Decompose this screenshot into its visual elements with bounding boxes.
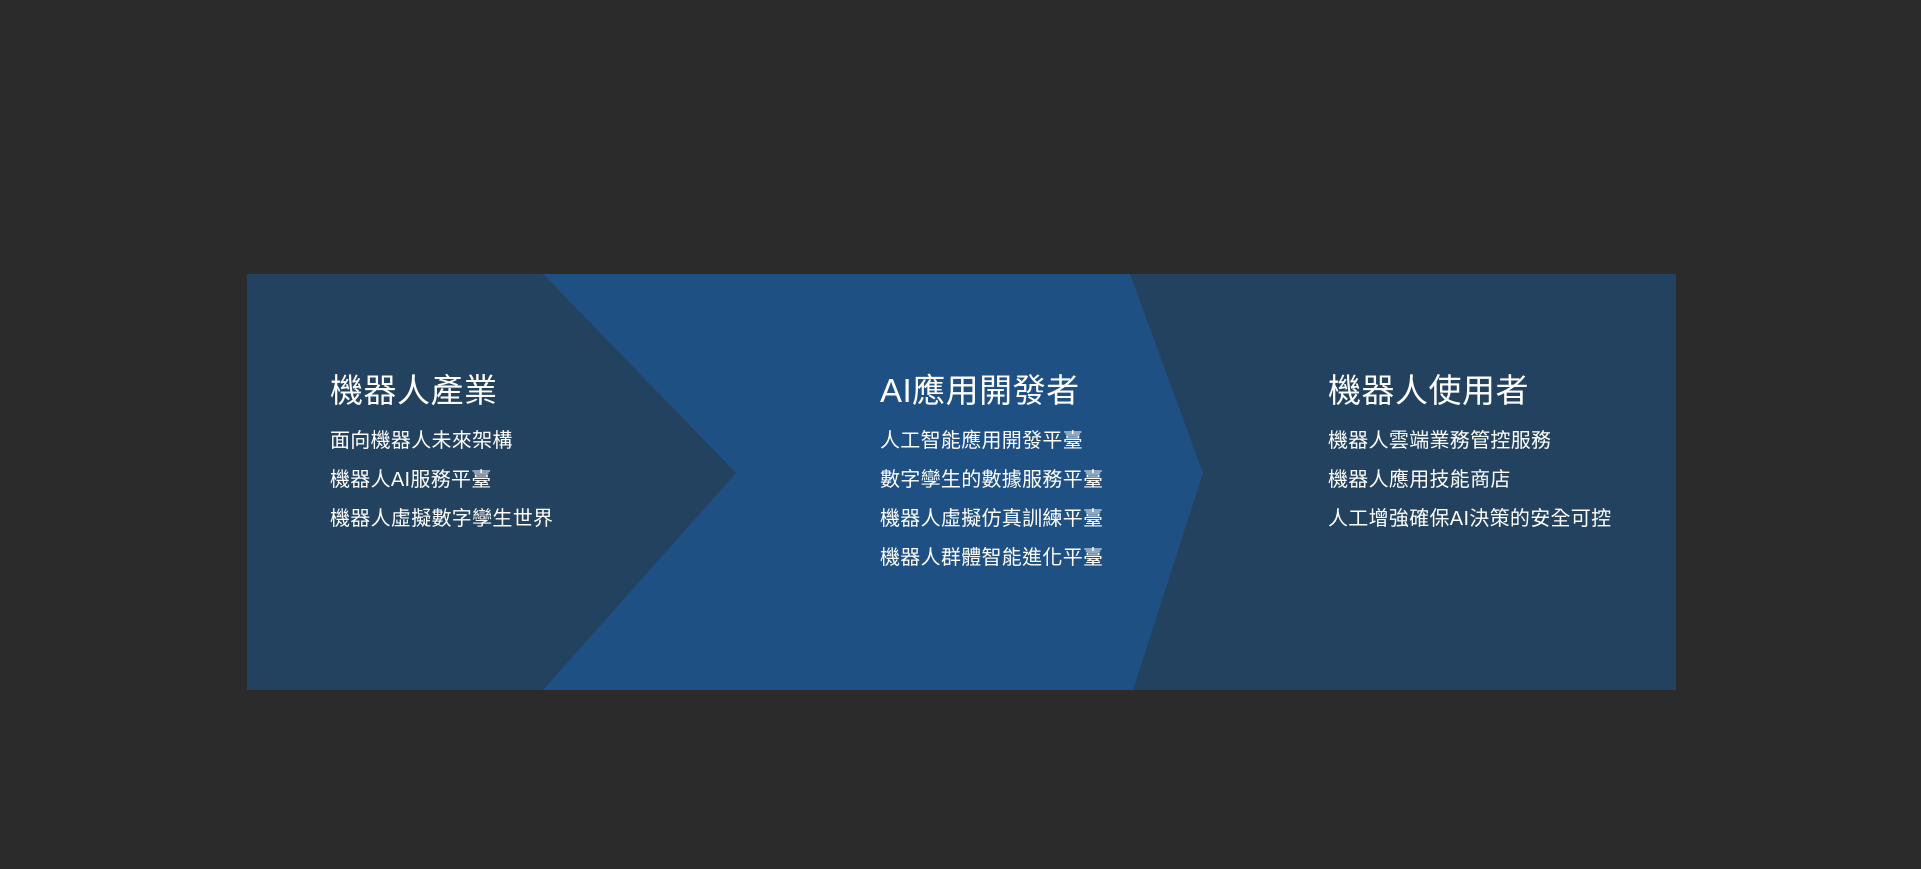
- column-item-list-robot-industry: 面向機器人未來架構 機器人AI服務平臺 機器人虛擬數字孿生世界: [330, 422, 553, 539]
- chevron-diagram: 機器人產業 面向機器人未來架構 機器人AI服務平臺 機器人虛擬數字孿生世界 AI…: [247, 274, 1676, 690]
- column-title-ai-app-developer: AI應用開發者: [880, 371, 1080, 411]
- chevron-column-robot-industry[interactable]: 機器人產業 面向機器人未來架構 機器人AI服務平臺 機器人虛擬數字孿生世界: [247, 274, 647, 690]
- list-item: 人工增強確保AI決策的安全可控: [1328, 500, 1611, 539]
- list-item: 數字孿生的數據服務平臺: [880, 461, 1103, 500]
- list-item: 機器人應用技能商店: [1328, 461, 1611, 500]
- list-item: 人工智能應用開發平臺: [880, 422, 1103, 461]
- list-item: 機器人虛擬數字孿生世界: [330, 500, 553, 539]
- list-item: 機器人雲端業務管控服務: [1328, 422, 1611, 461]
- list-item: 機器人AI服務平臺: [330, 461, 553, 500]
- list-item: 機器人虛擬仿真訓練平臺: [880, 500, 1103, 539]
- column-title-robot-industry: 機器人產業: [330, 371, 498, 411]
- list-item: 面向機器人未來架構: [330, 422, 553, 461]
- chevron-column-robot-user[interactable]: 機器人使用者 機器人雲端業務管控服務 機器人應用技能商店 人工增強確保AI決策的…: [1281, 274, 1676, 690]
- chevron-column-ai-app-developer[interactable]: AI應用開發者 人工智能應用開發平臺 數字孿生的數據服務平臺 機器人虛擬仿真訓練…: [833, 274, 1253, 690]
- column-item-list-ai-app-developer: 人工智能應用開發平臺 數字孿生的數據服務平臺 機器人虛擬仿真訓練平臺 機器人群體…: [880, 422, 1103, 578]
- chevron-columns-layer: 機器人產業 面向機器人未來架構 機器人AI服務平臺 機器人虛擬數字孿生世界 AI…: [247, 274, 1676, 690]
- list-item: 機器人群體智能進化平臺: [880, 539, 1103, 578]
- column-item-list-robot-user: 機器人雲端業務管控服務 機器人應用技能商店 人工增強確保AI決策的安全可控: [1328, 422, 1611, 539]
- column-title-robot-user: 機器人使用者: [1328, 371, 1529, 411]
